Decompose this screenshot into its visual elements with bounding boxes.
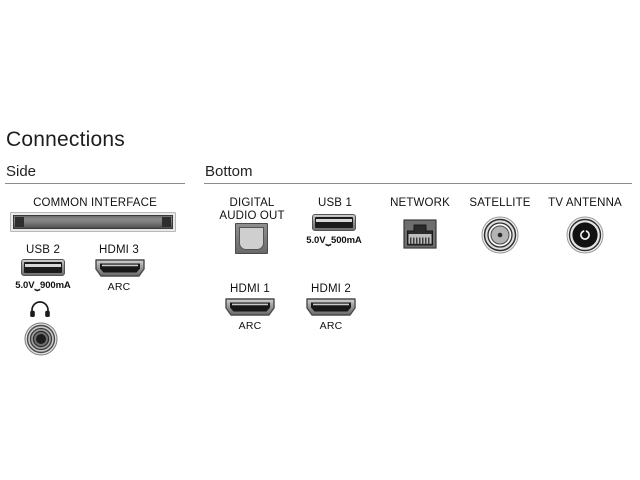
label-hdmi2-arc: ARC — [296, 320, 366, 332]
hdmi-icon — [224, 297, 276, 317]
connections-diagram: Connections Side COMMON INTERFACE USB 2 … — [0, 0, 640, 480]
label-common-interface: COMMON INTERFACE — [5, 197, 185, 210]
label-satellite: SATELLITE — [458, 197, 542, 210]
label-network: NETWORK — [378, 197, 462, 210]
label-usb1-power: 5.0V⏟500mA — [294, 235, 374, 246]
label-digital-audio-out: DIGITAL AUDIO OUT — [204, 197, 300, 223]
label-hdmi3: HDMI 3 — [84, 244, 154, 257]
usb-a-icon — [21, 259, 65, 276]
label-hdmi2: HDMI 2 — [296, 283, 366, 296]
coax-antenna-icon — [566, 216, 604, 254]
label-usb1: USB 1 — [300, 197, 370, 210]
headphone-icon — [29, 301, 51, 318]
section-divider-bottom — [204, 183, 632, 184]
label-hdmi1: HDMI 1 — [215, 283, 285, 296]
rj45-icon — [403, 219, 437, 249]
usb-a-icon — [312, 214, 356, 231]
label-hdmi1-arc: ARC — [215, 320, 285, 332]
hdmi-icon — [305, 297, 357, 317]
coax-satellite-icon — [481, 216, 519, 254]
section-header-bottom: Bottom — [205, 164, 253, 179]
label-usb2: USB 2 — [8, 244, 78, 257]
audio-jack-icon — [24, 322, 58, 356]
ci-slot-icon — [10, 212, 176, 232]
page-title: Connections — [6, 129, 125, 150]
section-divider-side — [5, 183, 185, 184]
label-tv-antenna: TV ANTENNA — [536, 197, 634, 210]
hdmi-icon — [94, 258, 146, 278]
section-header-side: Side — [6, 164, 36, 179]
label-usb2-power: 5.0V⏟900mA — [3, 280, 83, 291]
optical-toslink-icon — [235, 223, 268, 254]
label-hdmi3-arc: ARC — [84, 281, 154, 293]
